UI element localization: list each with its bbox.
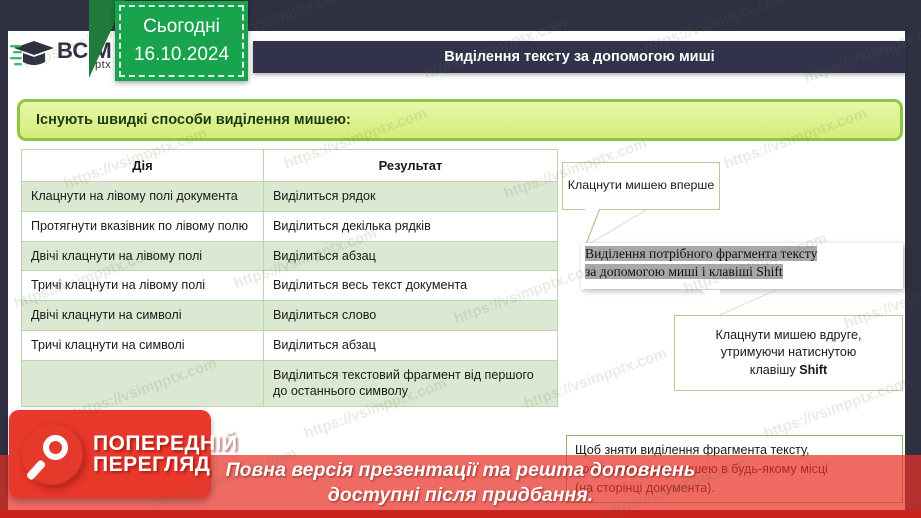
table-header-row: Дія Результат — [22, 150, 558, 182]
cell-result: Виділиться абзац — [264, 241, 558, 271]
callout-first-click: Клацнути мишею вперше — [562, 162, 720, 210]
callout-second-click-line1: Клацнути мишею вдруге, — [715, 328, 861, 342]
subtitle-banner: Існують швидкі способи виділення мишею: — [17, 99, 903, 141]
callout-shift-key: Shift — [799, 363, 827, 377]
left-dark-strip — [0, 0, 8, 518]
preview-badge[interactable]: ПОПЕРЕДНІЙ ПЕРЕГЛЯД — [9, 410, 211, 498]
preview-badge-line2: ПЕРЕГЛЯД — [93, 454, 238, 475]
table-header-action: Дія — [22, 150, 264, 182]
selected-text-line1: Виділення потрібного фрагмента тексту — [585, 246, 817, 261]
cell-action: Протягнути вказівник по лівому полю — [22, 212, 264, 242]
cell-action: Двічі клацнути на лівому полі — [22, 241, 264, 271]
callout-second-click: Клацнути мишею вдруге, утримуючи натисну… — [674, 315, 903, 391]
callout-second-click-tail-edge — [718, 290, 776, 316]
cell-action — [22, 360, 264, 406]
table-row: Виділиться текстовий фрагмент від першог… — [22, 360, 558, 406]
cell-result: Виділиться весь текст документа — [264, 271, 558, 301]
table-row: Тричі клацнути на лівому поліВиділиться … — [22, 271, 558, 301]
preview-badge-line1: ПОПЕРЕДНІЙ — [93, 433, 238, 454]
table-row: Тричі клацнути на символіВиділиться абза… — [22, 330, 558, 360]
table-header-result: Результат — [264, 150, 558, 182]
graduation-cap-icon — [10, 37, 56, 73]
methods-table: Дія Результат Клацнути на лівому полі до… — [21, 149, 558, 407]
date-badge: Сьогодні 16.10.2024 — [115, 1, 248, 81]
cell-result: Виділиться рядок — [264, 182, 558, 212]
date-badge-label: Сьогодні — [143, 13, 220, 41]
slide-root: BCIM pptx Сьогодні 16.10.2024 Виділення … — [0, 0, 921, 518]
magnifier-icon — [21, 423, 83, 485]
cell-action: Тричі клацнути на лівому полі — [22, 271, 264, 301]
callout-second-click-line3: клавішу — [750, 363, 799, 377]
right-dark-strip — [905, 0, 921, 518]
table-row: Двічі клацнути на символіВиділиться слов… — [22, 301, 558, 331]
date-badge-value: 16.10.2024 — [134, 41, 229, 69]
cell-result: Виділиться слово — [264, 301, 558, 331]
cell-result: Виділиться абзац — [264, 330, 558, 360]
callout-second-click-line2: утримуючи натиснутою — [721, 345, 857, 359]
table-row: Протягнути вказівник по лівому полюВиділ… — [22, 212, 558, 242]
table-row: Клацнути на лівому полі документаВиділит… — [22, 182, 558, 212]
cell-action: Тричі клацнути на символі — [22, 330, 264, 360]
callout-first-click-tail-edge — [586, 209, 648, 246]
selected-text-line2: за допомогою миші і клавіші Shift — [585, 264, 783, 279]
cell-result: Виділиться декілька рядків — [264, 212, 558, 242]
preview-overlay-base — [0, 510, 921, 518]
cell-action: Двічі клацнути на символі — [22, 301, 264, 331]
table-row: Двічі клацнути на лівому поліВиділиться … — [22, 241, 558, 271]
cell-result: Виділиться текстовий фрагмент від першог… — [264, 360, 558, 406]
cell-action: Клацнути на лівому полі документа — [22, 182, 264, 212]
page-title: Виділення тексту за допомогою миші — [253, 41, 906, 73]
selected-text-panel: Виділення потрібного фрагмента тексту за… — [581, 243, 903, 289]
